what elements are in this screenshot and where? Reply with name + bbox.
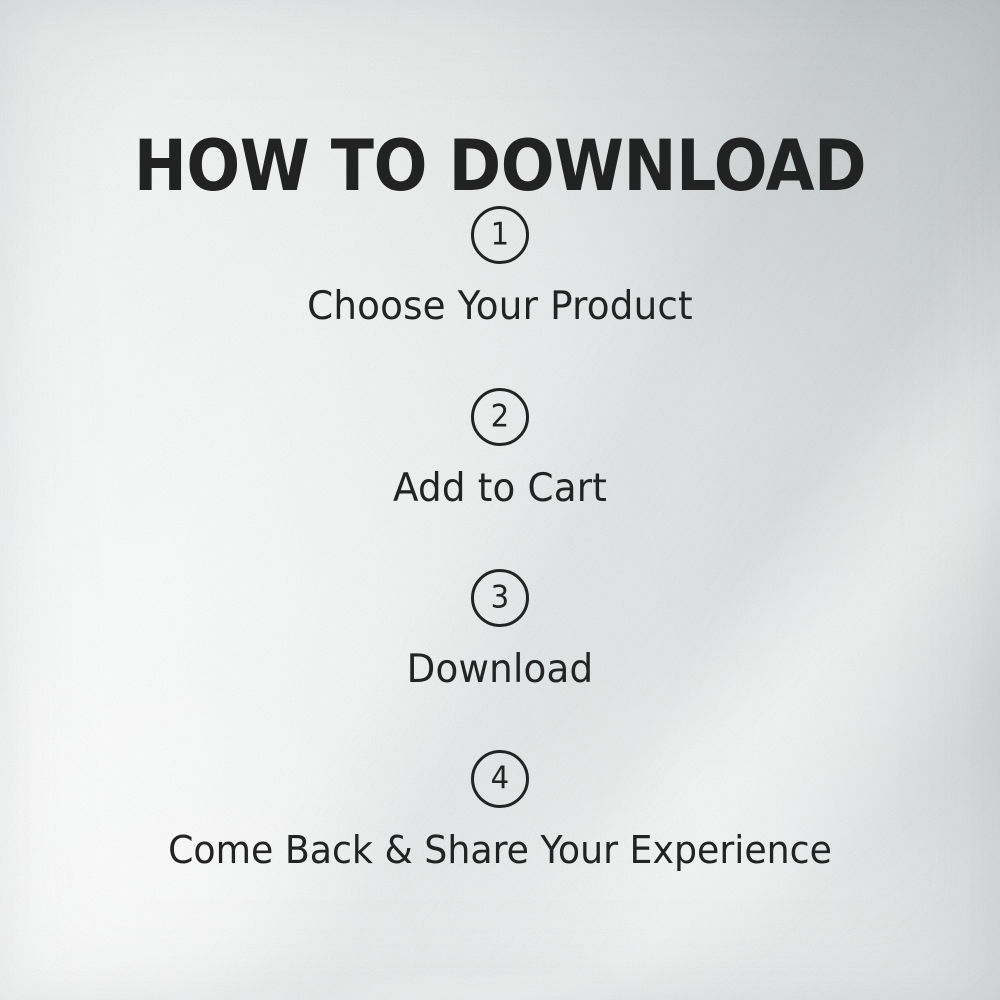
step-label-4: Come Back & Share Your Experience (23, 830, 978, 871)
step-number-badge-3: 3 (471, 569, 529, 627)
step-number-badge-2: 2 (471, 388, 529, 446)
step-item-2: 2 Add to Cart (0, 388, 1000, 510)
step-number-2: 2 (491, 401, 510, 432)
step-number-3: 3 (491, 582, 510, 613)
step-number-1: 1 (491, 219, 510, 250)
step-item-3: 3 Download (0, 569, 1000, 691)
step-number-badge-1: 1 (471, 206, 529, 264)
step-number-badge-4: 4 (471, 750, 529, 808)
content-area: HOW TO DOWNLOAD 1 Choose Your Product 2 … (0, 0, 1000, 1000)
step-number-4: 4 (491, 763, 510, 794)
step-item-1: 1 Choose Your Product (0, 206, 1000, 328)
step-item-4: 4 Come Back & Share Your Experience (0, 750, 1000, 871)
step-label-1: Choose Your Product (23, 286, 978, 328)
page-title: HOW TO DOWNLOAD (48, 131, 953, 201)
step-label-3: Download (23, 649, 978, 691)
step-label-2: Add to Cart (23, 468, 978, 510)
how-to-download-graphic: HOW TO DOWNLOAD 1 Choose Your Product 2 … (0, 0, 1000, 1000)
